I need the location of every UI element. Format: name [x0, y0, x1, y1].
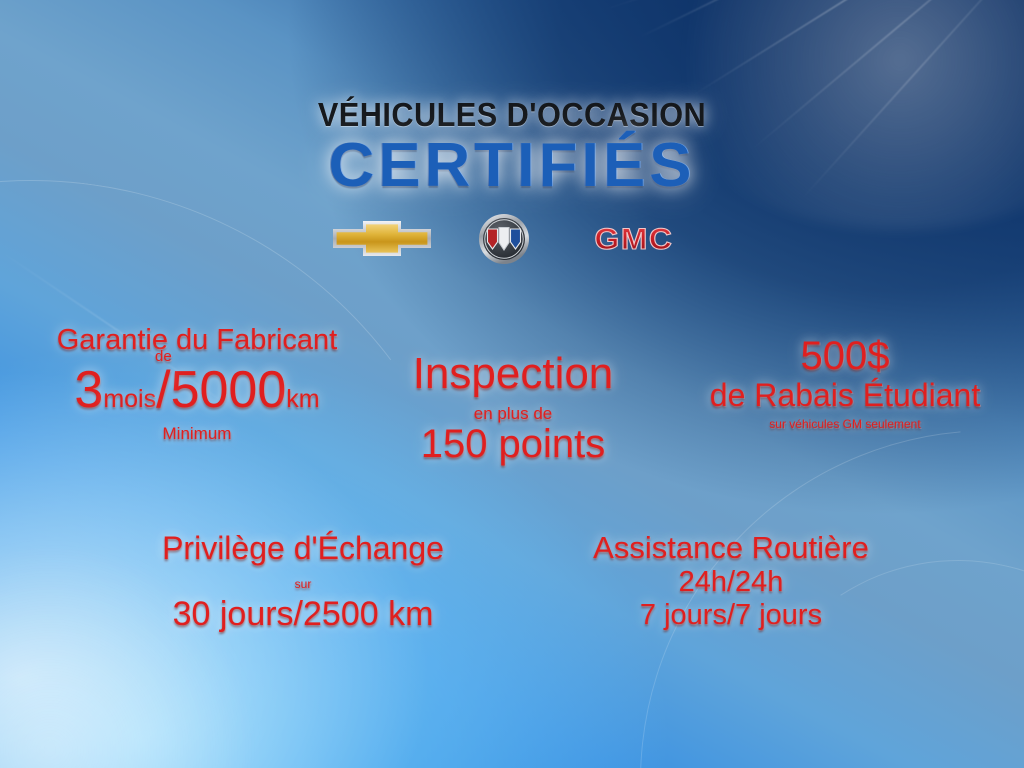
feature-assistance-routiere: Assistance Routière 24h/24h 7 jours/7 jo…: [556, 532, 906, 631]
inspection-overline: en plus de: [474, 405, 552, 422]
rabais-footnote: sur véhicules GM seulement: [680, 418, 1010, 430]
gmc-logo-icon: GMC: [574, 219, 694, 259]
inspection-title: Inspection: [358, 352, 668, 397]
promo-poster: VÉHICULES D'OCCASION CERTIFIÉS: [0, 0, 1024, 768]
svg-text:GMC: GMC: [595, 222, 674, 256]
garantie-footnote: Minimum: [22, 425, 372, 442]
inspection-value-wrap: en plus de 150 points: [421, 424, 606, 465]
inspection-value: 150 points: [421, 422, 606, 466]
decorative-ray: [690, 0, 1024, 97]
feature-inspection: Inspection en plus de 150 points: [358, 352, 668, 465]
rabais-title: de Rabais Étudiant: [680, 379, 1010, 412]
feature-rabais-etudiant: 500$ de Rabais Étudiant sur véhicules GM…: [680, 336, 1010, 431]
garantie-months-number: 3: [74, 364, 103, 417]
decorative-ray: [640, 0, 1024, 37]
decorative-ray: [600, 0, 1024, 11]
buick-trishield-icon: [478, 213, 530, 265]
feature-privilege-echange: Privilège d'Échange sur 30 jours/2500 km: [118, 532, 488, 631]
echange-title: Privilège d'Échange: [118, 532, 488, 565]
garantie-km-number: 5000: [171, 364, 287, 417]
assistance-line-2: 24h/24h: [556, 568, 906, 598]
echange-value-wrap: sur 30 jours/2500 km: [173, 597, 434, 632]
rabais-amount: 500$: [680, 336, 1010, 377]
garantie-months-unit: mois: [103, 387, 156, 413]
garantie-km-unit: km: [286, 387, 319, 413]
poster-header: VÉHICULES D'OCCASION CERTIFIÉS: [0, 98, 1024, 197]
header-kicker: VÉHICULES D'OCCASION: [36, 98, 988, 131]
garantie-separator: /: [156, 361, 170, 419]
garantie-superscript-de: de: [155, 349, 172, 364]
brand-logo-strip: GMC: [0, 208, 1024, 270]
echange-overline: sur: [295, 578, 312, 590]
feature-garantie: Garantie du Fabricant 3 mois / de 5000 k…: [22, 326, 372, 442]
echange-value: 30 jours/2500 km: [173, 595, 434, 633]
garantie-title: Garantie du Fabricant: [22, 326, 372, 356]
assistance-title: Assistance Routière: [556, 532, 906, 564]
chevrolet-bowtie-icon: [330, 217, 434, 261]
garantie-value-row: 3 mois / de 5000 km: [74, 364, 319, 417]
header-wordmark-certifies: CERTIFIÉS: [0, 135, 1024, 197]
assistance-line-3: 7 jours/7 jours: [556, 601, 906, 631]
